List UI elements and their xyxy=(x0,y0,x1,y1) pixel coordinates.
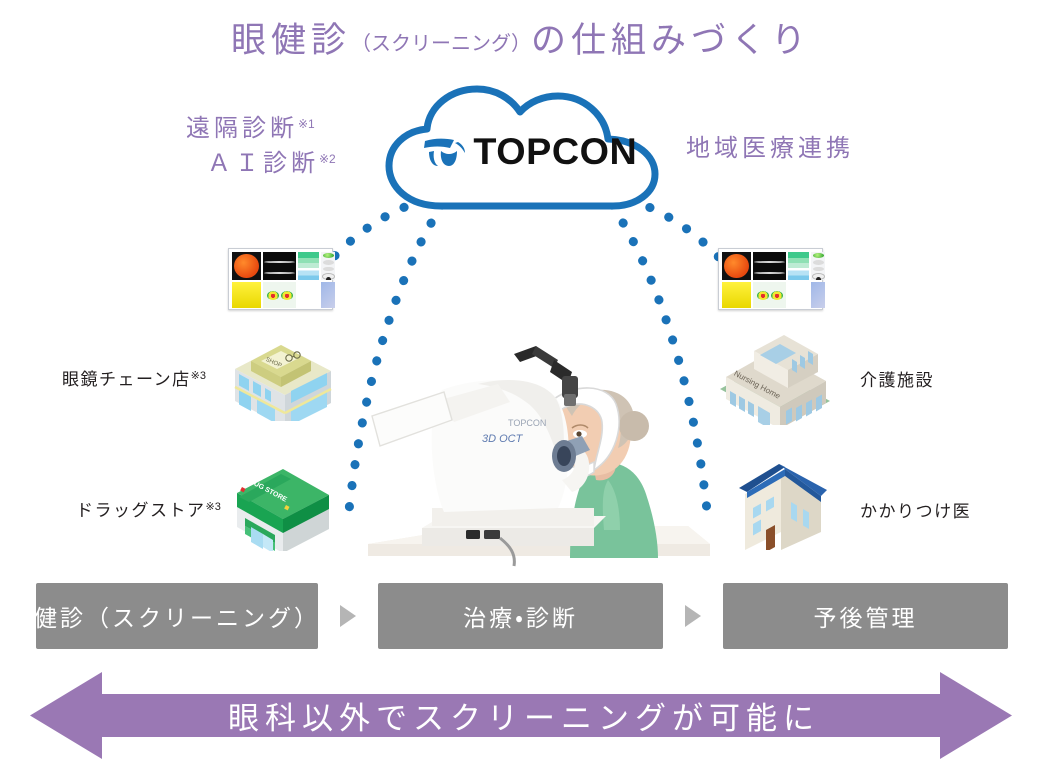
label-drug-store-text: ドラッグストア xyxy=(76,501,206,520)
page-title-part2: の仕組みづくり xyxy=(531,21,811,60)
svg-text:3D OCT: 3D OCT xyxy=(482,433,524,445)
fundus-camera-oct-device-icon: TOPCON 3D OCT xyxy=(358,330,726,575)
oct-bscan-cell xyxy=(263,252,296,280)
label-remote-diagnosis-note: ※1 xyxy=(298,117,315,131)
label-eyeglass-chain-store-text: 眼鏡チェーン店 xyxy=(62,370,191,389)
topography-cell xyxy=(753,282,786,308)
thickness-map-cell xyxy=(788,252,809,280)
bottom-banner: 眼科以外でスクリーニングが可能に xyxy=(30,668,1012,763)
process-step-prognosis-management[interactable]: 予後管理 xyxy=(723,583,1008,649)
label-eyeglass-chain-store-note: ※3 xyxy=(191,370,206,382)
label-drug-store-note: ※3 xyxy=(206,501,221,513)
label-ai-diagnosis-text: ＡＩ診断 xyxy=(207,150,319,177)
topcon-logomark-icon xyxy=(421,133,467,169)
infographic-canvas: 眼健診（スクリーニング）の仕組みづくり TOPCON 遠隔診断※1 Ａ xyxy=(0,0,1042,769)
family-doctor-house-icon xyxy=(735,450,835,555)
page-title-paren: （スクリーニング） xyxy=(351,33,531,55)
thickness-map-cell xyxy=(298,252,319,280)
svg-text:TOPCON: TOPCON xyxy=(508,418,546,428)
topcon-cloud: TOPCON xyxy=(383,82,673,212)
violet-map-cell xyxy=(811,282,825,308)
label-ai-diagnosis-note: ※2 xyxy=(319,152,336,166)
topcon-wordmark: TOPCON xyxy=(473,133,637,170)
oct-bscan-cell xyxy=(753,252,786,280)
topography-cell xyxy=(263,282,296,308)
blank-cell xyxy=(298,282,319,308)
thumbnail-column-cell xyxy=(321,252,335,280)
label-regional-medical-cooperation: 地域医療連携 xyxy=(686,128,854,163)
retinal-screening-report-icon xyxy=(718,248,823,310)
triangle-right-icon xyxy=(663,605,723,627)
retinal-screening-report-icon xyxy=(228,248,333,310)
process-step-screening[interactable]: 健診（スクリーニング） xyxy=(36,583,318,649)
nursing-home-building-icon: Nursing Home xyxy=(718,325,834,430)
thumbnail-column-cell xyxy=(811,252,825,280)
page-title: 眼健診（スクリーニング）の仕組みづくり xyxy=(0,12,1042,63)
label-remote-diagnosis-text: 遠隔診断 xyxy=(186,115,298,142)
label-drug-store: ドラッグストア※3 xyxy=(76,496,221,521)
fundus-photo-cell xyxy=(232,252,261,280)
yellow-chart-cell xyxy=(722,282,751,308)
page-title-part1: 眼健診 xyxy=(231,21,351,60)
process-flow: 健診（スクリーニング） 治療・診断 予後管理 xyxy=(36,583,1008,649)
label-nursing-facility: 介護施設 xyxy=(860,366,934,391)
label-eyeglass-chain-store: 眼鏡チェーン店※3 xyxy=(62,365,206,390)
label-family-doctor: かかりつけ医 xyxy=(860,497,971,522)
eyeglass-shop-building-icon: SHOP xyxy=(231,331,335,426)
process-step-treatment-diagnosis[interactable]: 治療・診断 xyxy=(378,583,663,649)
blank-cell xyxy=(788,282,809,308)
violet-map-cell xyxy=(321,282,335,308)
label-remote-diagnosis: 遠隔診断※1 xyxy=(186,108,315,143)
yellow-chart-cell xyxy=(232,282,261,308)
label-ai-diagnosis: ＡＩ診断※2 xyxy=(207,143,336,178)
fundus-photo-cell xyxy=(722,252,751,280)
topcon-brand-lockup: TOPCON xyxy=(383,82,673,212)
triangle-right-icon xyxy=(318,605,378,627)
banner-text: 眼科以外でスクリーニングが可能に xyxy=(30,668,1012,763)
drug-store-building-icon: DRUG STORE xyxy=(231,461,335,556)
